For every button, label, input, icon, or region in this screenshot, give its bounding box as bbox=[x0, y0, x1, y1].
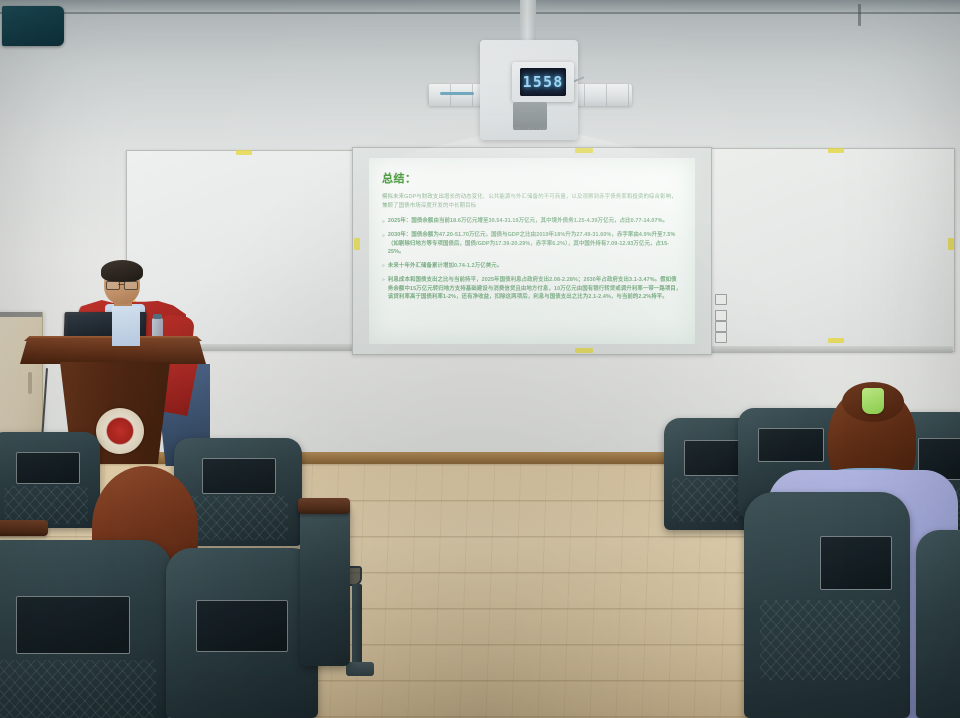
clock-time-display: 1558 bbox=[523, 73, 564, 91]
projector-brand-label: PROJECTOR bbox=[502, 126, 558, 131]
seat-mesh-pocket bbox=[760, 600, 900, 680]
tape-mark bbox=[236, 150, 252, 155]
slide-lead-paragraph: 模拟未来GDP与财政支出增长的动态变化、公共能源与外汇储备的不可商量，以及观察到… bbox=[382, 193, 682, 211]
seat-mesh-pocket bbox=[4, 486, 88, 524]
seat-mesh-pocket bbox=[188, 496, 288, 540]
bullet-marker-icon: » bbox=[382, 262, 385, 271]
presenter-glasses-bridge bbox=[118, 284, 124, 285]
wall-vent-panel bbox=[2, 6, 64, 46]
seat-mesh-pocket bbox=[0, 660, 156, 718]
board-control-button[interactable] bbox=[715, 321, 727, 332]
seat-back-plate bbox=[202, 458, 276, 494]
seat-armrest bbox=[0, 520, 48, 536]
bullet-text: 利息成本和国债支出之比与当前持平，2025年国债利息占政府支出2.08-2.28… bbox=[388, 276, 682, 302]
slide-bullet: » 未来十年外汇储备累计增加0.74-1.2万亿美元。 bbox=[382, 262, 682, 271]
presentation-slide: 总结： 模拟未来GDP与财政支出增长的动态变化、公共能源与外汇储备的不可商量，以… bbox=[369, 158, 695, 344]
bullet-text: 未来十年外汇储备累计增加0.74-1.2万亿美元。 bbox=[388, 262, 502, 271]
wall-fixture-mark bbox=[858, 4, 861, 26]
slide-bullet: » 2030年：国债余额为47.20-51.70万亿元，国债与GDP之比由201… bbox=[382, 231, 682, 257]
bottle-cap bbox=[153, 314, 162, 319]
seat-back-plate bbox=[16, 596, 130, 654]
projector-cable-blue bbox=[440, 92, 474, 95]
board-control-button[interactable] bbox=[715, 294, 727, 305]
seat-leg bbox=[352, 584, 362, 668]
seat-back-plate bbox=[758, 428, 824, 462]
seat-back-plate bbox=[196, 600, 288, 652]
presenter-glasses-right-lens bbox=[124, 281, 138, 290]
cabinet-top-edge bbox=[0, 312, 42, 317]
slide-bullet: » 2025年：国债余额由当前18.6万亿元增至30.54-31.19万亿元，其… bbox=[382, 217, 682, 226]
seat-side-panel bbox=[300, 506, 350, 666]
presenter-glasses-left-lens bbox=[106, 281, 120, 290]
seat-back-plate bbox=[820, 536, 892, 590]
tape-mark bbox=[948, 238, 954, 250]
bullet-marker-icon: » bbox=[382, 276, 385, 302]
tape-mark bbox=[354, 238, 360, 250]
board-control-button[interactable] bbox=[715, 310, 727, 321]
ceiling-seam bbox=[0, 12, 960, 14]
projection-screen: 总结： 模拟未来GDP与财政支出增长的动态变化、公共能源与外汇储备的不可商量，以… bbox=[352, 147, 712, 355]
seat-back-plate bbox=[16, 452, 80, 484]
hair-clip-icon bbox=[862, 388, 884, 414]
slide-title: 总结： bbox=[382, 170, 682, 186]
bullet-text: 2030年：国债余额为47.20-51.70万亿元，国债与GDP之比由2019年… bbox=[388, 231, 682, 257]
seat-foot bbox=[346, 662, 374, 676]
presenter-shirt-front bbox=[112, 306, 140, 346]
tape-mark bbox=[575, 348, 593, 353]
bullet-marker-icon: » bbox=[382, 217, 385, 226]
whiteboard-tray-right bbox=[708, 346, 953, 353]
bullet-text: 2025年：国债余额由当前18.6万亿元增至30.54-31.19万亿元，其中境… bbox=[388, 217, 668, 226]
university-emblem bbox=[96, 408, 144, 454]
presenter-hair bbox=[101, 260, 143, 282]
tape-mark bbox=[575, 148, 593, 153]
board-control-button[interactable] bbox=[715, 332, 727, 343]
digital-clock: 1558 bbox=[520, 68, 566, 96]
tape-mark bbox=[828, 338, 844, 343]
slide-bullet: » 利息成本和国债支出之比与当前持平，2025年国债利息占政府支出2.08-2.… bbox=[382, 276, 682, 302]
bullet-marker-icon: » bbox=[382, 231, 385, 257]
lecture-hall-photo: 总结： 模拟未来GDP与财政支出增长的动态变化、公共能源与外汇储备的不可商量，以… bbox=[0, 0, 960, 718]
cabinet-handle[interactable] bbox=[28, 372, 32, 394]
auditorium-seat[interactable] bbox=[916, 530, 960, 718]
tape-mark bbox=[828, 148, 844, 153]
seat-armrest bbox=[298, 498, 350, 514]
whiteboard-right bbox=[708, 148, 955, 352]
